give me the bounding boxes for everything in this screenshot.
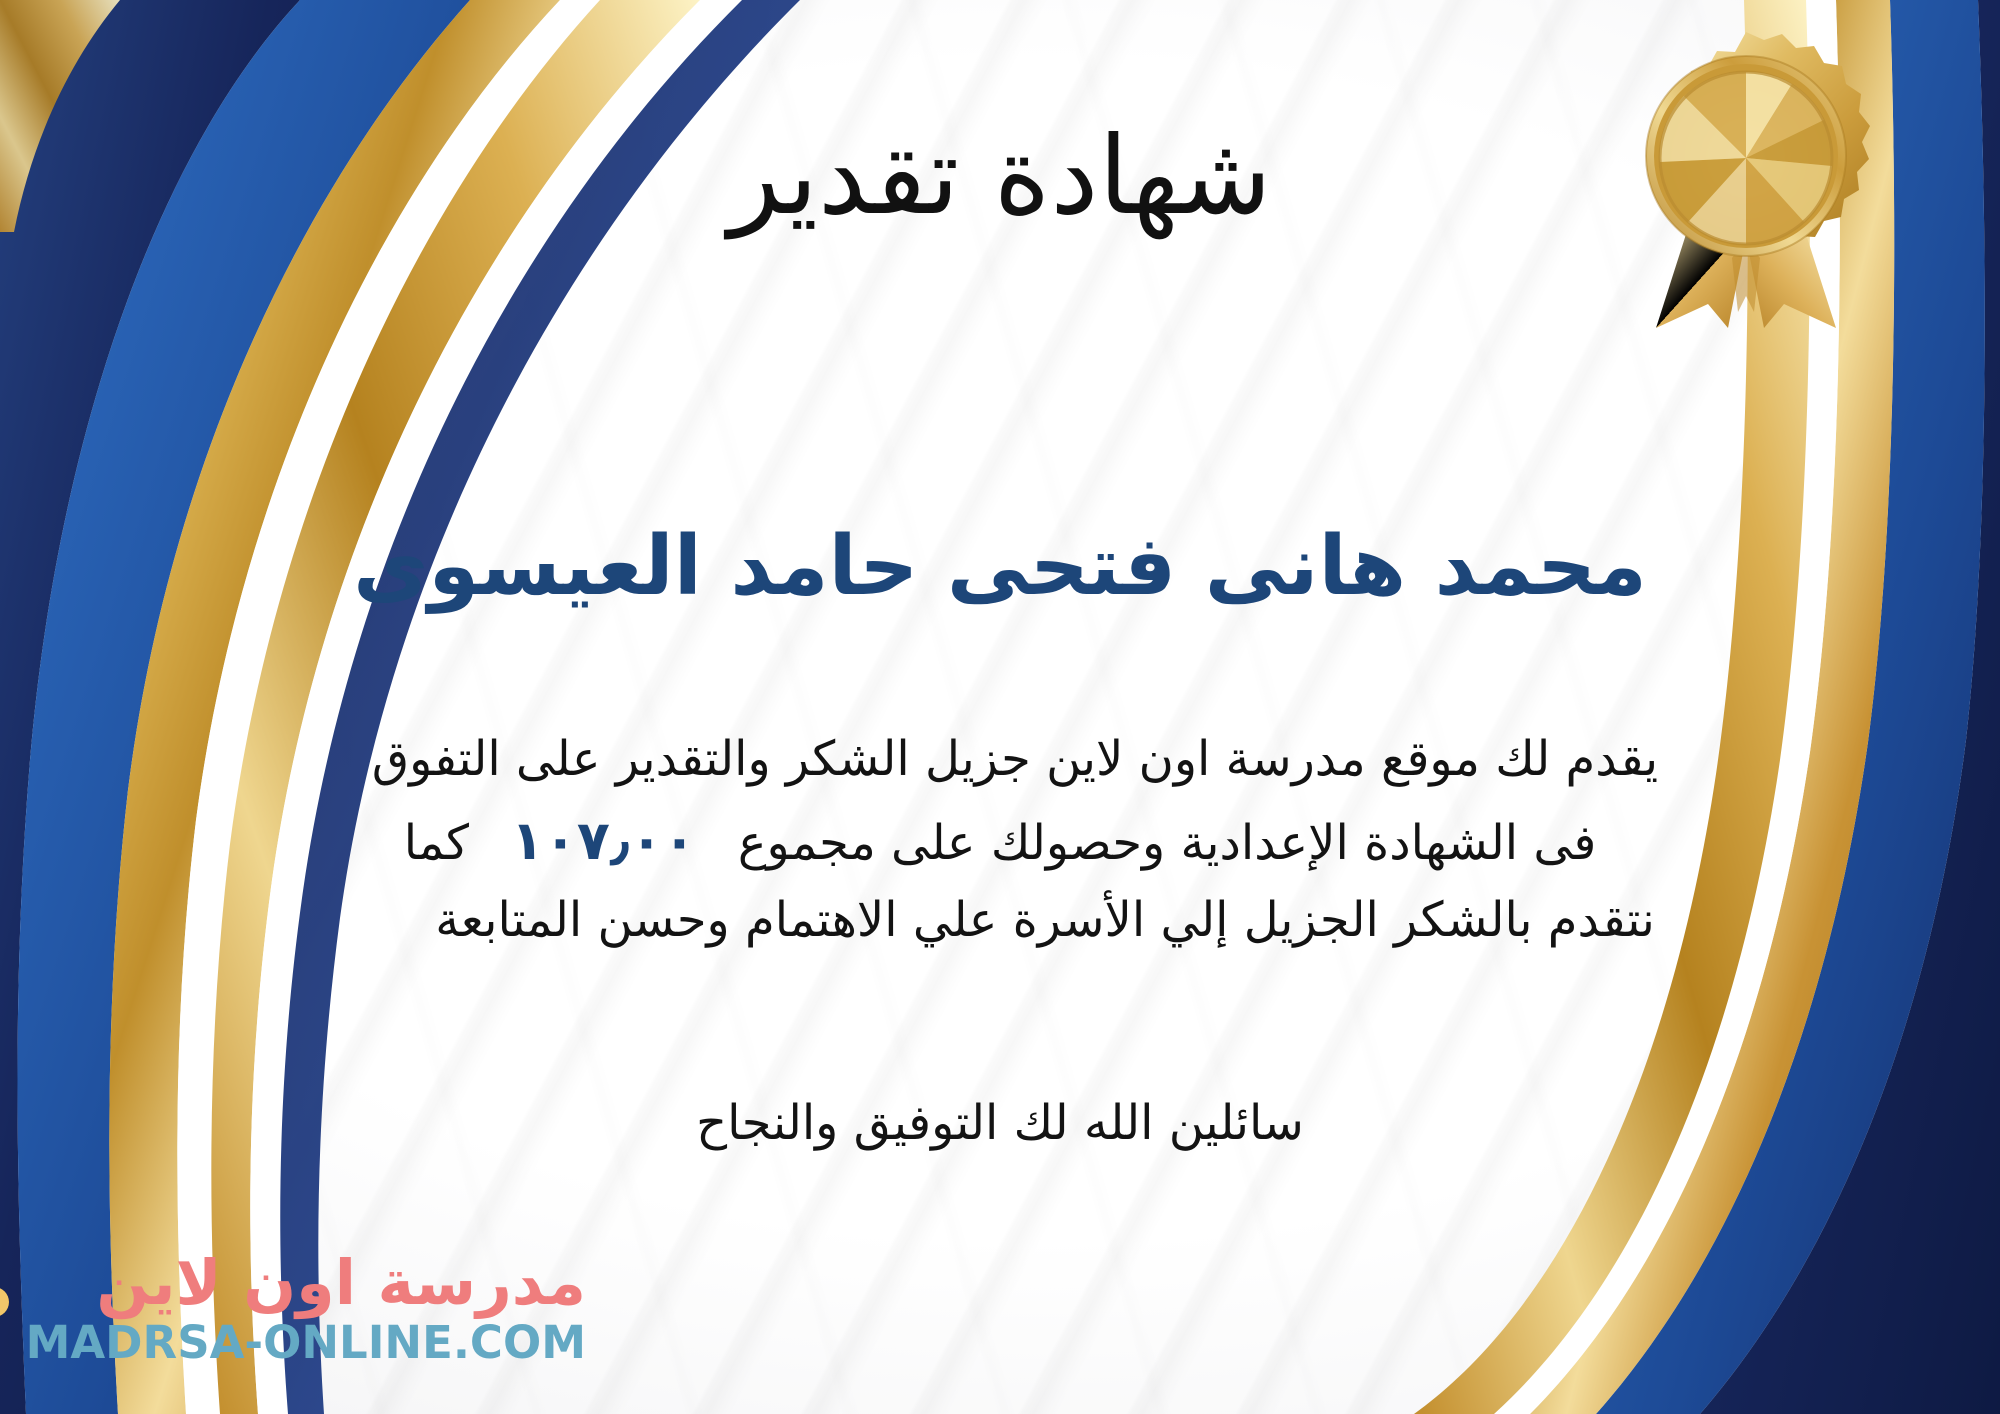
certificate-title: شهادة تقدير xyxy=(0,118,2000,237)
certificate-body: يقدم لك موقع مدرسة اون لاين جزيل الشكر و… xyxy=(60,722,1940,959)
body-line-3: نتقدم بالشكر الجزيل إلي الأسرة علي الاهت… xyxy=(60,883,1940,959)
body-line-1: يقدم لك موقع مدرسة اون لاين جزيل الشكر و… xyxy=(60,722,1940,798)
body-line-2: فى الشهادة الإعدادية وحصولك على مجموع١٠٧… xyxy=(60,798,1940,883)
body-line-2-after: كما xyxy=(404,815,469,871)
recipient-name: محمد هانى فتحى حامد العيسوى xyxy=(0,516,2000,619)
closing-line: سائلين الله لك التوفيق والنجاح xyxy=(0,1095,2000,1151)
body-line-2-before: فى الشهادة الإعدادية وحصولك على مجموع xyxy=(738,815,1596,871)
certificate-page: شهادة تقدير محمد هانى فتحى حامد العيسوى … xyxy=(0,0,2000,1414)
brand-name-arabic: مدرسة اون لاين xyxy=(96,1249,586,1317)
brand-logo-text: مدرسة اون لاين MADRSA-ONLINE.COM xyxy=(26,1249,586,1366)
certificate-content: شهادة تقدير محمد هانى فتحى حامد العيسوى … xyxy=(0,0,2000,1414)
brand-logo[interactable]: مدرسة اون لاين MADRSA-ONLINE.COM xyxy=(26,1228,586,1388)
grade-total-value: ١٠٧٫٠٠ xyxy=(469,809,738,872)
brand-website: MADRSA-ONLINE.COM xyxy=(26,1319,586,1366)
network-nodes-icon xyxy=(0,1242,18,1374)
